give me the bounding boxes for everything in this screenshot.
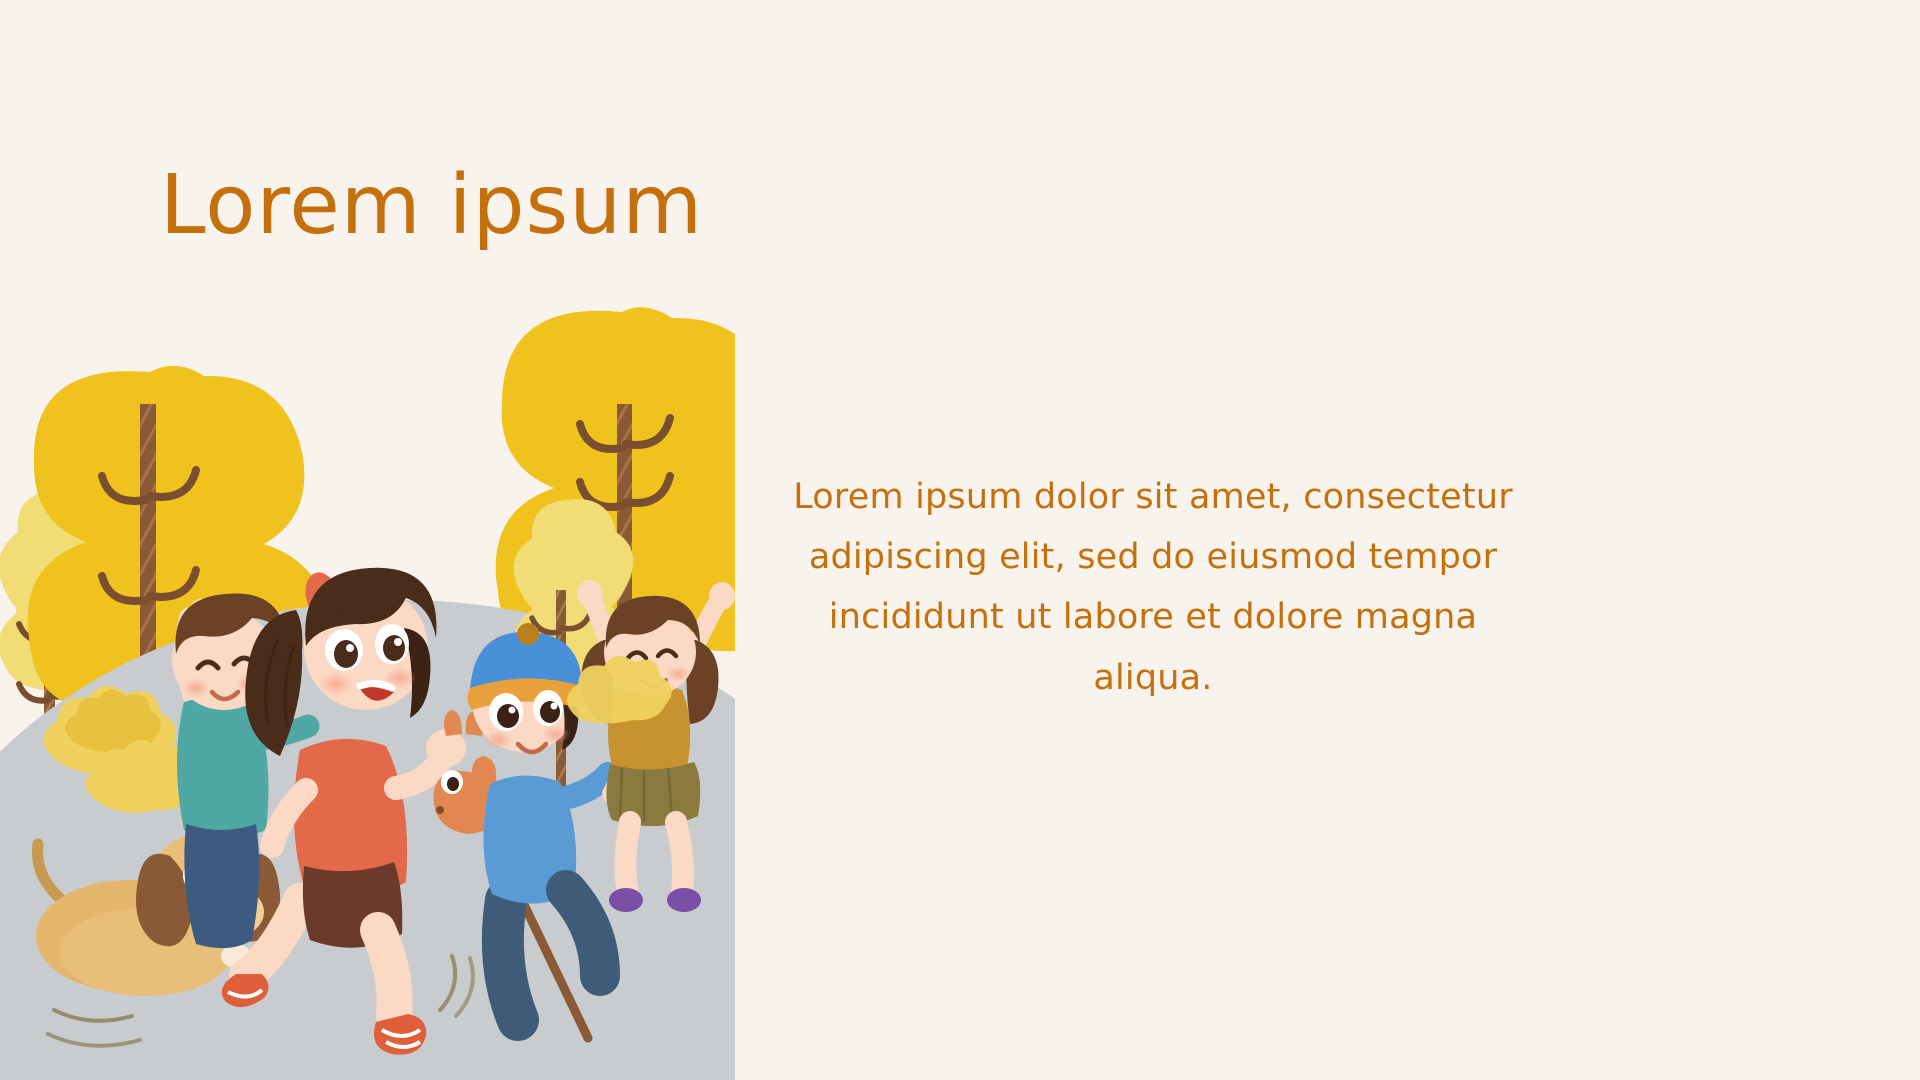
page-title: Lorem ipsum	[160, 163, 703, 249]
slide-canvas: Lorem ipsum Lorem ipsum dolor sit amet, …	[0, 0, 1920, 1080]
body-paragraph: Lorem ipsum dolor sit amet, consectetur …	[782, 467, 1524, 708]
